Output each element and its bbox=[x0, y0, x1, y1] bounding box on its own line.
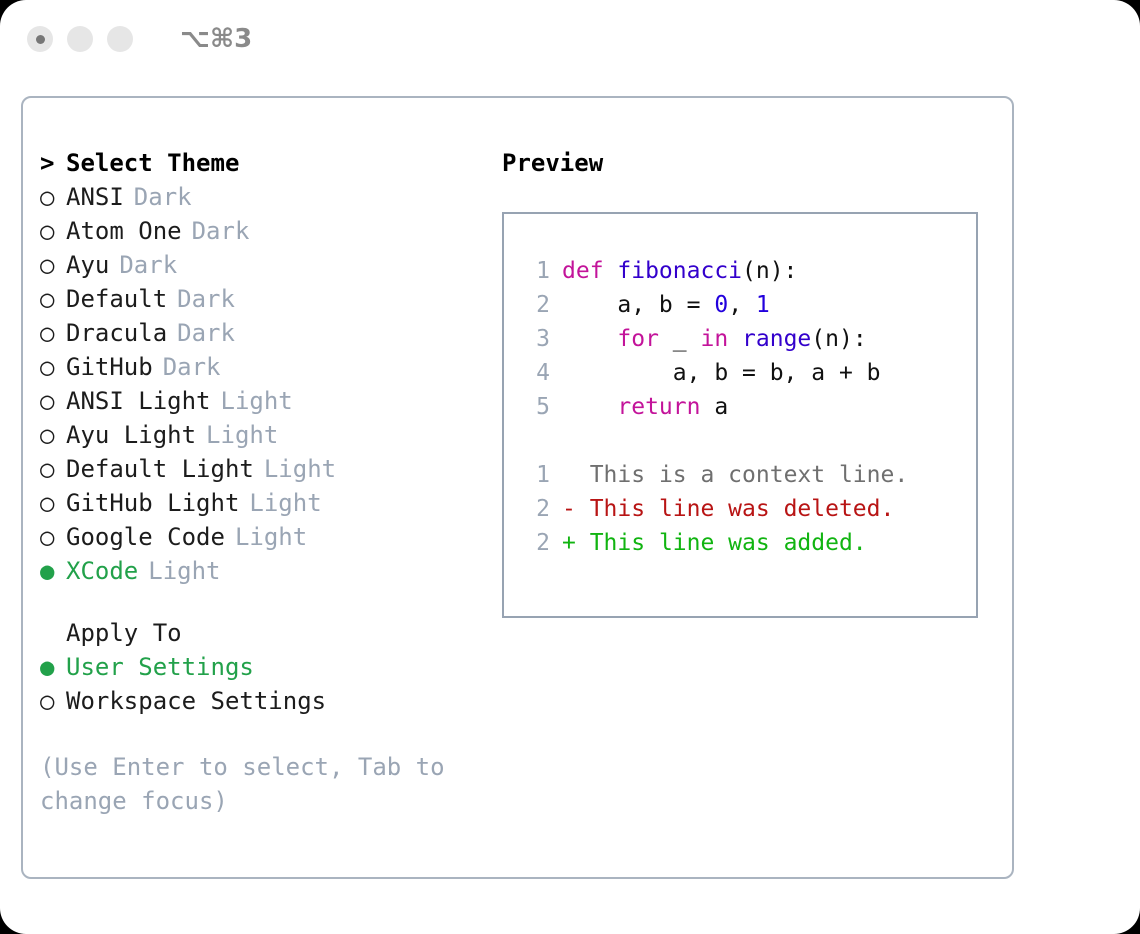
radio-unselected-icon: ○ bbox=[40, 684, 66, 718]
theme-variant-badge: Dark bbox=[119, 248, 177, 282]
apply-to-header-marker-placeholder: ○ bbox=[40, 616, 66, 650]
code-line: 3 for _ in range(n): bbox=[522, 322, 976, 356]
theme-variant-badge: Light bbox=[249, 486, 321, 520]
theme-list-item[interactable]: ○Atom OneDark bbox=[40, 214, 490, 248]
apply-to-item[interactable]: ○Workspace Settings bbox=[40, 684, 490, 718]
select-theme-header: > Select Theme bbox=[40, 146, 490, 180]
theme-list-item[interactable]: ○ANSI LightLight bbox=[40, 384, 490, 418]
theme-variant-badge: Light bbox=[221, 384, 293, 418]
code-line: 1def fibonacci(n): bbox=[522, 254, 976, 288]
theme-name: ANSI bbox=[66, 180, 124, 214]
theme-list-item[interactable]: ○Ayu LightLight bbox=[40, 418, 490, 452]
traffic-light-active-dot[interactable] bbox=[27, 26, 53, 52]
theme-name: Default Light bbox=[66, 452, 254, 486]
code-text: a, b = b, a + b bbox=[562, 356, 881, 390]
apply-to-label: User Settings bbox=[66, 650, 254, 684]
code-line: 2 a, b = 0, 1 bbox=[522, 288, 976, 322]
apply-to-list: ●User Settings○Workspace Settings bbox=[40, 650, 490, 718]
window-titlebar: ⌥⌘3 bbox=[0, 0, 1140, 78]
code-token-keyword: def bbox=[562, 258, 617, 284]
radio-unselected-icon: ○ bbox=[40, 180, 66, 214]
code-token-plain: _ bbox=[659, 326, 701, 352]
code-diff-spacer bbox=[522, 424, 976, 458]
code-token-plain: a bbox=[700, 394, 728, 420]
diff-line-deleted: 2- This line was deleted. bbox=[522, 492, 976, 526]
diff-line-added: 2+ This line was added. bbox=[522, 526, 976, 560]
code-token-function: fibonacci bbox=[617, 258, 742, 284]
theme-variant-badge: Dark bbox=[177, 282, 235, 316]
theme-name: GitHub Light bbox=[66, 486, 239, 520]
line-number: 1 bbox=[522, 458, 550, 492]
line-number: 2 bbox=[522, 526, 550, 560]
code-text: return a bbox=[562, 390, 728, 424]
code-token-plain: a, b = bbox=[562, 292, 714, 318]
theme-list-item[interactable]: ○ANSIDark bbox=[40, 180, 490, 214]
theme-variant-badge: Dark bbox=[192, 214, 250, 248]
code-token-function: range bbox=[742, 326, 811, 352]
code-text: for _ in range(n): bbox=[562, 322, 867, 356]
header-caret-icon: > bbox=[40, 146, 66, 180]
preview-column: Preview 1def fibonacci(n):2 a, b = 0, 13… bbox=[502, 146, 992, 618]
radio-unselected-icon: ○ bbox=[40, 350, 66, 384]
code-token-plain bbox=[728, 326, 742, 352]
line-number: 3 bbox=[522, 322, 550, 356]
apply-to-label: Workspace Settings bbox=[66, 684, 326, 718]
theme-variant-badge: Dark bbox=[134, 180, 192, 214]
diff-sign: + bbox=[562, 526, 576, 560]
theme-name: Ayu bbox=[66, 248, 109, 282]
code-sample: 1def fibonacci(n):2 a, b = 0, 13 for _ i… bbox=[522, 254, 976, 424]
diff-sample: 1 This is a context line.2- This line wa… bbox=[522, 458, 976, 560]
line-number: 2 bbox=[522, 492, 550, 526]
section-spacer bbox=[40, 588, 490, 616]
theme-list-item[interactable]: ○DraculaDark bbox=[40, 316, 490, 350]
code-text: def fibonacci(n): bbox=[562, 254, 797, 288]
radio-unselected-icon: ○ bbox=[40, 452, 66, 486]
diff-sign bbox=[562, 458, 576, 492]
line-number: 5 bbox=[522, 390, 550, 424]
theme-name: ANSI Light bbox=[66, 384, 211, 418]
theme-variant-badge: Light bbox=[235, 520, 307, 554]
code-line: 5 return a bbox=[522, 390, 976, 424]
theme-list-item[interactable]: ○Google CodeLight bbox=[40, 520, 490, 554]
keyboard-hint-text: (Use Enter to select, Tab to change focu… bbox=[40, 750, 455, 818]
theme-list: ○ANSIDark○Atom OneDark○AyuDark○DefaultDa… bbox=[40, 180, 490, 588]
theme-list-item[interactable]: ○GitHub LightLight bbox=[40, 486, 490, 520]
code-token-plain: , bbox=[728, 292, 756, 318]
code-token-keyword: in bbox=[700, 326, 728, 352]
diff-line-context: 1 This is a context line. bbox=[522, 458, 976, 492]
app-window: ⌥⌘3 > Select Theme ○ANSIDark○Atom OneDar… bbox=[0, 0, 1140, 934]
diff-sign: - bbox=[562, 492, 576, 526]
code-token-number: 0 bbox=[714, 292, 728, 318]
code-token-plain: (n): bbox=[742, 258, 797, 284]
code-line: 4 a, b = b, a + b bbox=[522, 356, 976, 390]
radio-unselected-icon: ○ bbox=[40, 316, 66, 350]
radio-unselected-icon: ○ bbox=[40, 486, 66, 520]
theme-variant-badge: Light bbox=[206, 418, 278, 452]
radio-selected-icon: ● bbox=[40, 554, 66, 588]
theme-list-item[interactable]: ○GitHubDark bbox=[40, 350, 490, 384]
theme-list-item[interactable]: ●XCodeLight bbox=[40, 554, 490, 588]
theme-variant-badge: Light bbox=[264, 452, 336, 486]
theme-list-item[interactable]: ○AyuDark bbox=[40, 248, 490, 282]
theme-name: Google Code bbox=[66, 520, 225, 554]
apply-to-item[interactable]: ●User Settings bbox=[40, 650, 490, 684]
code-token-number: 1 bbox=[756, 292, 770, 318]
code-token-keyword: return bbox=[617, 394, 700, 420]
line-number: 2 bbox=[522, 288, 550, 322]
preview-box: 1def fibonacci(n):2 a, b = 0, 13 for _ i… bbox=[502, 212, 978, 618]
line-number: 4 bbox=[522, 356, 550, 390]
theme-name: Atom One bbox=[66, 214, 182, 248]
code-token-plain bbox=[562, 394, 617, 420]
keyboard-shortcut-label: ⌥⌘3 bbox=[180, 24, 252, 54]
code-text: a, b = 0, 1 bbox=[562, 288, 770, 322]
theme-variant-badge: Dark bbox=[163, 350, 221, 384]
theme-name: Ayu Light bbox=[66, 418, 196, 452]
radio-unselected-icon: ○ bbox=[40, 418, 66, 452]
active-dot-inner bbox=[36, 35, 45, 44]
apply-to-header-label: Apply To bbox=[66, 616, 182, 650]
diff-text: This is a context line. bbox=[576, 458, 908, 492]
radio-unselected-icon: ○ bbox=[40, 282, 66, 316]
radio-unselected-icon: ○ bbox=[40, 520, 66, 554]
code-token-keyword: for bbox=[617, 326, 659, 352]
theme-list-item[interactable]: ○Default LightLight bbox=[40, 452, 490, 486]
theme-variant-badge: Light bbox=[148, 554, 220, 588]
diff-text: This line was added. bbox=[576, 526, 867, 560]
radio-unselected-icon: ○ bbox=[40, 248, 66, 282]
theme-selection-column: > Select Theme ○ANSIDark○Atom OneDark○Ay… bbox=[40, 146, 490, 818]
theme-name: XCode bbox=[66, 554, 138, 588]
line-number: 1 bbox=[522, 254, 550, 288]
radio-selected-icon: ● bbox=[40, 650, 66, 684]
code-token-plain: (n): bbox=[811, 326, 866, 352]
traffic-light-dot-3[interactable] bbox=[107, 26, 133, 52]
theme-name: Dracula bbox=[66, 316, 167, 350]
preview-title: Preview bbox=[502, 146, 992, 180]
radio-unselected-icon: ○ bbox=[40, 384, 66, 418]
theme-name: GitHub bbox=[66, 350, 153, 384]
hint-spacer bbox=[40, 718, 490, 750]
theme-name: Default bbox=[66, 282, 167, 316]
code-token-plain bbox=[562, 326, 617, 352]
code-token-plain: a, b = b, a + b bbox=[562, 360, 881, 386]
theme-list-item[interactable]: ○DefaultDark bbox=[40, 282, 490, 316]
traffic-light-dot-2[interactable] bbox=[67, 26, 93, 52]
select-theme-header-label: Select Theme bbox=[66, 146, 239, 180]
radio-unselected-icon: ○ bbox=[40, 214, 66, 248]
theme-variant-badge: Dark bbox=[177, 316, 235, 350]
content-panel: > Select Theme ○ANSIDark○Atom OneDark○Ay… bbox=[21, 96, 1014, 879]
diff-text: This line was deleted. bbox=[576, 492, 895, 526]
apply-to-header: ○ Apply To bbox=[40, 616, 490, 650]
